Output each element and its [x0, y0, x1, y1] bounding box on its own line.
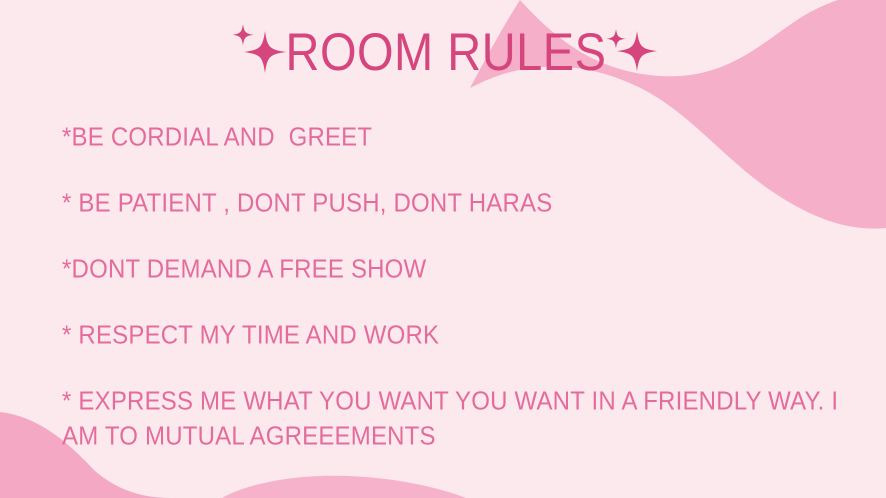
page-title: ROOM RULES — [0, 14, 886, 90]
rule-item-1: *BE CORDIAL AND GREET — [62, 120, 852, 155]
sparkle-large-icon — [244, 31, 286, 73]
poster-canvas: ROOM RULES *BE CORDIAL AND GREET * BE PA… — [0, 0, 886, 498]
sparkle-small-icon — [232, 24, 253, 46]
sparkle-right-group — [605, 24, 659, 80]
sparkle-pair-right-icon — [605, 24, 659, 80]
rules-list: *BE CORDIAL AND GREET * BE PATIENT , DON… — [62, 120, 852, 450]
sparkle-small-icon — [606, 29, 626, 49]
rule-item-3: *DONT DEMAND A FREE SHOW — [62, 252, 852, 287]
rule-item-5: * EXPRESS ME WHAT YOU WANT YOU WANT IN A… — [62, 384, 852, 454]
rule-item-4: * RESPECT MY TIME AND WORK — [62, 318, 852, 353]
poster-content: ROOM RULES *BE CORDIAL AND GREET * BE PA… — [0, 0, 886, 498]
sparkle-left-group — [228, 21, 290, 83]
sparkle-large-icon — [617, 31, 657, 71]
sparkle-pair-left-icon — [228, 21, 290, 83]
page-title-text: ROOM RULES — [286, 25, 607, 80]
rule-item-2: * BE PATIENT , DONT PUSH, DONT HARAS — [62, 186, 852, 221]
